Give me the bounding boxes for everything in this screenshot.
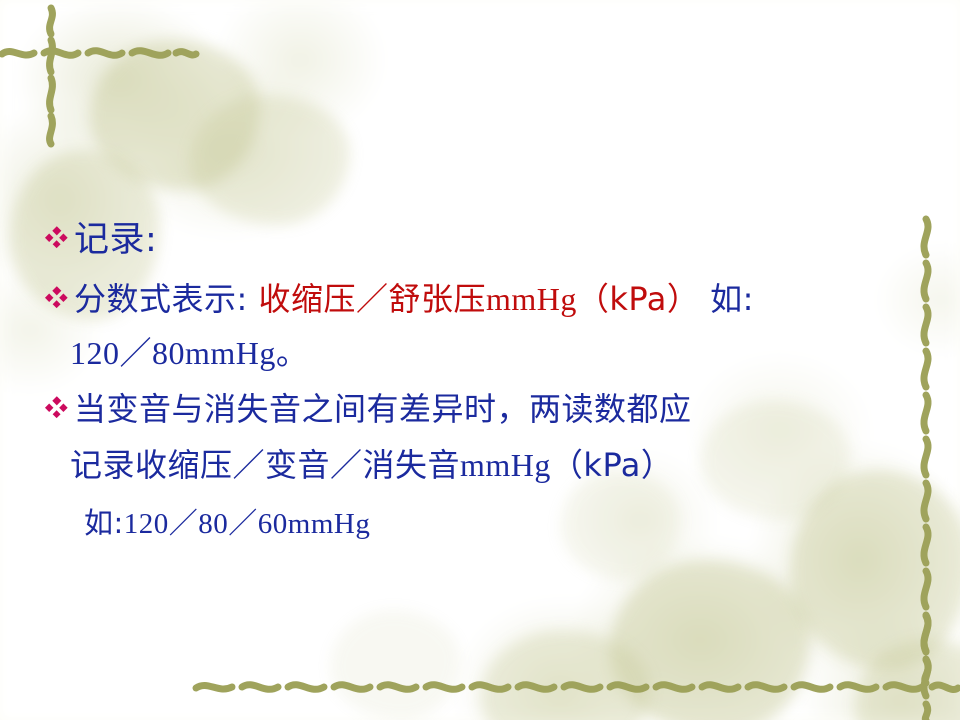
- bullet-line-1: 记录:: [44, 218, 157, 262]
- line-6-unit-mmhg: mmHg: [288, 504, 371, 544]
- continuation-line-5: 记录收缩压／变音／消失音mmHg（kPa）: [70, 444, 673, 486]
- line-2-unit-mmhg: mmHg: [486, 278, 577, 320]
- line-3-period: 。: [276, 332, 309, 374]
- line-2-space-1: [248, 278, 259, 320]
- line-2-formula-cjk: 收缩压／舒张压: [258, 278, 486, 320]
- diamond-cluster-bullet-icon: [44, 226, 70, 270]
- diamond-cluster-bullet-icon: [44, 286, 70, 328]
- line-2-example-label: 如:: [710, 278, 754, 320]
- slide-canvas: 记录: 分数式表示: 收缩压／舒张压mmHg（kPa） 如: 120／80mmH…: [0, 0, 960, 720]
- line-2-unit-kpa: （kPa）: [577, 278, 700, 320]
- line-3-value: 120／80: [70, 332, 185, 374]
- line-3-unit-mmhg: mmHg: [185, 332, 276, 374]
- continuation-line-6: 如: 120／80／60mmHg: [84, 503, 370, 544]
- bullet-line-4: 当变音与消失音之间有差异时，两读数都应: [44, 388, 692, 430]
- line-5-unit-mmhg: mmHg: [460, 444, 551, 486]
- diamond-cluster-bullet-icon: [44, 396, 70, 438]
- line-4-text: 当变音与消失音之间有差异时，两读数都应: [74, 388, 692, 430]
- slide-text-body: 记录: 分数式表示: 收缩压／舒张压mmHg（kPa） 如: 120／80mmH…: [0, 0, 960, 720]
- line-6-value: 120／80／60: [124, 504, 288, 544]
- line-5-unit-kpa: （kPa）: [551, 444, 674, 486]
- line-6-example-label: 如:: [84, 503, 124, 543]
- line-5-formula-cjk: 记录收缩压／变音／消失音: [70, 444, 460, 486]
- continuation-line-3: 120／80mmHg。: [70, 332, 308, 374]
- bullet-line-2: 分数式表示: 收缩压／舒张压mmHg（kPa） 如:: [44, 278, 754, 320]
- line-2-space-2: [699, 278, 710, 320]
- line-1-text: 记录:: [74, 218, 157, 262]
- line-2-label: 分数式表示:: [74, 278, 248, 320]
